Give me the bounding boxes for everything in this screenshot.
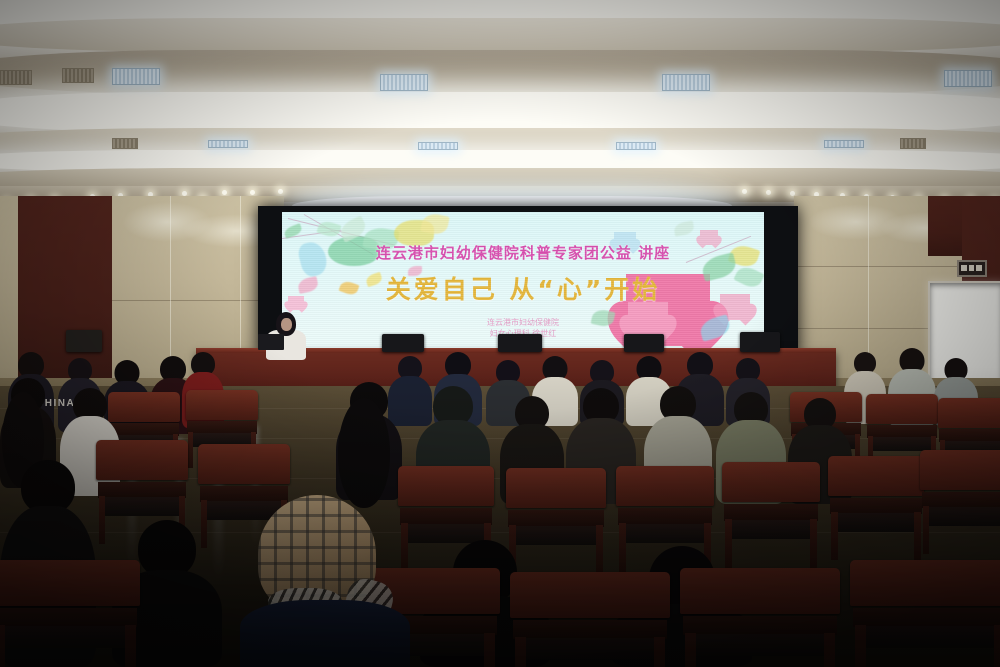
ceiling-air-vent: [62, 68, 94, 83]
ceiling-air-vent: [112, 138, 138, 149]
ceiling-grille-panel: [380, 74, 428, 91]
ceiling: [0, 0, 1000, 212]
ceiling-air-vent: [900, 138, 926, 149]
slide-title-line1: 连云港市妇幼保健院科普专家团公益 讲座: [282, 242, 764, 263]
desk-monitor: [740, 332, 780, 352]
presentation-screen[interactable]: 连云港市妇幼保健院科普专家团公益 讲座 关爱自己 从“心”开始 连云港市妇幼保健…: [282, 212, 764, 354]
desk-monitor: [382, 334, 424, 352]
slide-subtitle-line1: 连云港市妇幼保健院: [282, 318, 764, 329]
wall-control-panel[interactable]: [957, 260, 987, 277]
ceiling-grille-panel: [662, 74, 710, 91]
ceiling-air-vent: [0, 70, 32, 85]
wall-wood-header-right: [928, 196, 962, 256]
lecture-hall-photo: 连云港市妇幼保健院科普专家团公益 讲座 关爱自己 从“心”开始 连云港市妇幼保健…: [0, 0, 1000, 667]
slide-title-line2: 关爱自己 从“心”开始: [282, 270, 764, 306]
side-equipment: [66, 330, 102, 352]
ceiling-grille-panel: [418, 142, 458, 150]
ceiling-grille-panel: [616, 142, 656, 150]
ceiling-grille-panel: [824, 140, 864, 148]
presenter-laptop: [258, 334, 284, 350]
foreground-person-shoulders: [240, 600, 410, 667]
desk-monitor: [498, 334, 542, 352]
desk-monitor: [624, 334, 664, 352]
hair: [338, 398, 390, 508]
ceiling-beam-1: [0, 18, 1000, 52]
ceiling-light-band-2: [0, 92, 1000, 132]
ceiling-grille-panel: [944, 70, 992, 87]
ceiling-grille-panel: [208, 140, 248, 148]
ceiling-grille-panel: [112, 68, 160, 85]
